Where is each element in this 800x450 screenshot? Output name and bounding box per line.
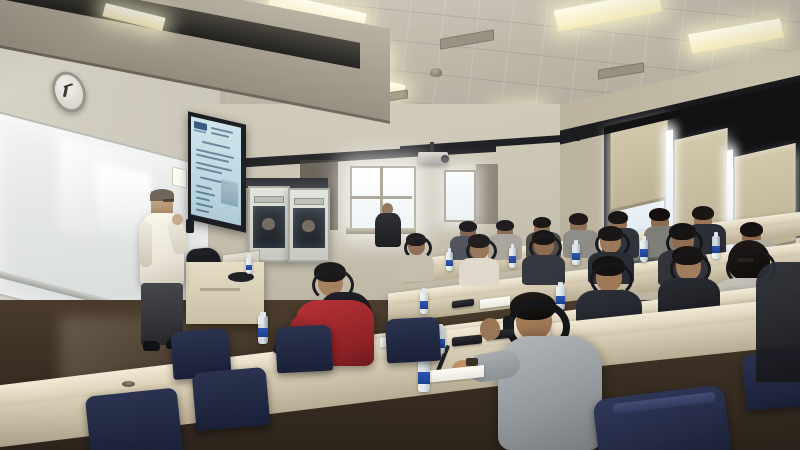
conference-room-photo <box>0 0 800 450</box>
photo-vignette <box>0 0 800 450</box>
